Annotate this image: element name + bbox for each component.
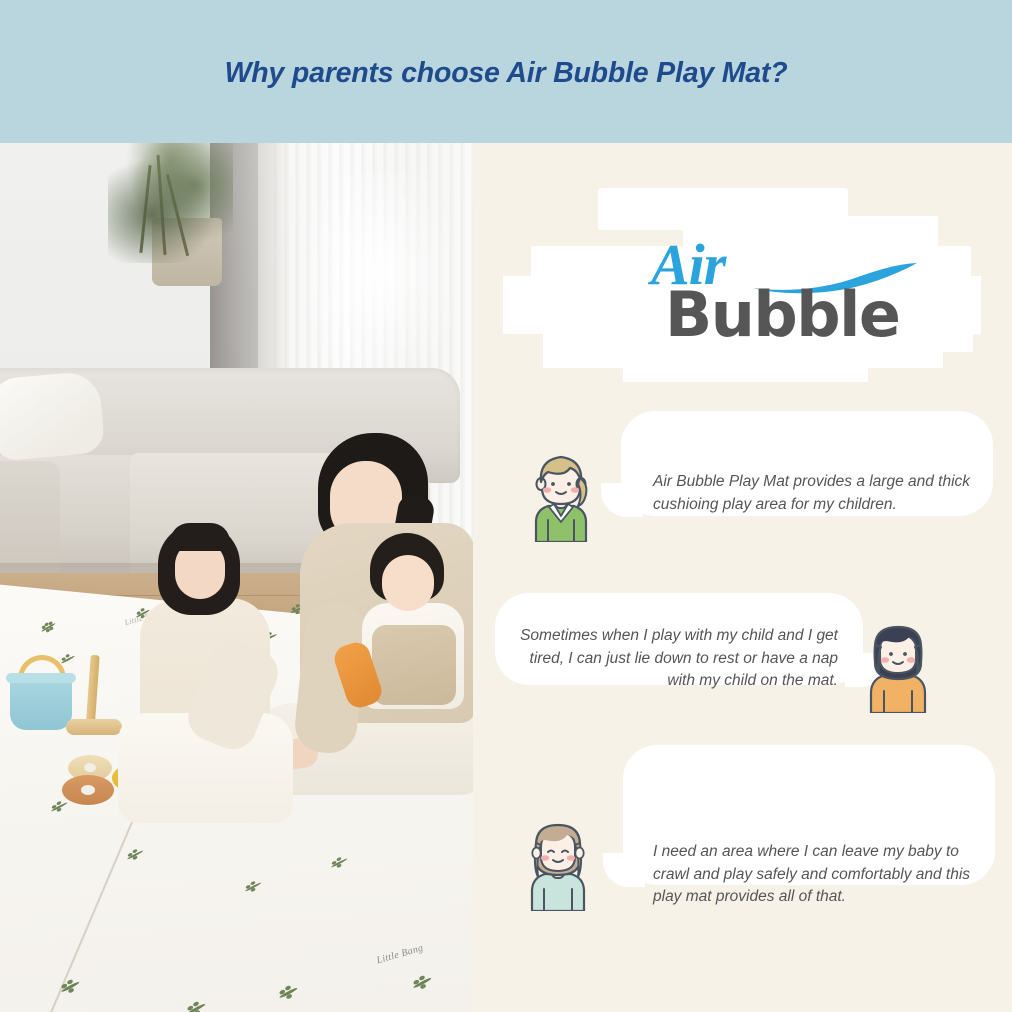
testimonial-quote: I need an area where I can leave my baby… [653,841,993,909]
page-title: Why parents choose Air Bubble Play Mat? [225,57,788,90]
infographic-page: Why parents choose Air Bubble Play Mat? [0,0,1012,1012]
testimonial-1: Air Bubble Play Mat provides a large and… [473,411,1012,551]
avatar-brownhair-mint [523,819,593,911]
logo-word-bubble: Bubble [665,284,899,346]
testimonials-panel: Air Bubble [473,143,1012,1012]
logo-paint-patch [623,348,868,382]
header-inner: Why parents choose Air Bubble Play Mat? [5,5,1007,138]
lifestyle-photo: Little Bang Little Bang Little Bang [0,143,473,1012]
testimonial-3: I need an area where I can leave my baby… [473,745,1012,925]
speech-bubble-tail [603,853,645,887]
photo-vignette [0,143,473,1012]
speech-bubble-tail [601,483,643,517]
brand-logo: Air Bubble [493,188,992,388]
avatar-blonde-green [526,450,596,542]
avatar-darkhair-orange [863,621,933,713]
testimonial-quote: Sometimes when I play with my child and … [513,625,838,693]
testimonial-2: Sometimes when I play with my child and … [473,593,1012,723]
header-banner: Why parents choose Air Bubble Play Mat? [0,0,1012,143]
testimonial-quote: Air Bubble Play Mat provides a large and… [653,471,983,516]
